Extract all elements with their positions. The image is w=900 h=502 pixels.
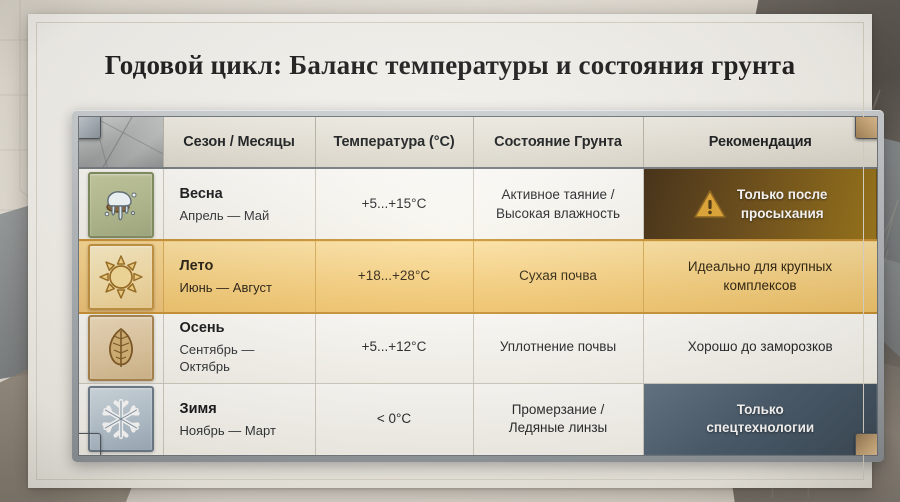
recommendation-line-1: Идеально для крупных — [652, 258, 869, 276]
snowflake-icon — [99, 397, 143, 441]
table-frame-inner: Сезон / Месяцы Температура (°C) Состояни… — [78, 116, 878, 456]
table-body: Весна Апрель — Май +5...+15°C Активное т… — [79, 168, 877, 455]
sun-icon — [98, 254, 144, 300]
table-header: Сезон / Месяцы Температура (°C) Состояни… — [79, 117, 877, 168]
season-months: Ноябрь — Март — [180, 422, 307, 440]
table-row[interactable]: Осень Сентябрь — Октябрь +5...+12°C Упло… — [79, 312, 877, 383]
season-name: Осень — [180, 319, 307, 339]
season-name: Зимя — [180, 400, 307, 420]
melting-snow-tile — [88, 172, 154, 238]
corner-ornament-bottom-left — [78, 433, 101, 456]
table-row[interactable]: Весна Апрель — Май +5...+15°C Активное т… — [79, 168, 877, 241]
soil-cell: Активное таяние / Высокая влажность — [473, 168, 643, 241]
corner-ornament-bottom-right — [855, 433, 878, 456]
season-name-cell: Лето Июнь — Август — [163, 241, 315, 312]
recommendation-line-1: Только после — [737, 186, 827, 204]
leaf-tile — [88, 315, 154, 381]
leaf-icon — [99, 326, 143, 370]
season-months: Сентябрь — Октябрь — [180, 341, 307, 376]
header-temperature: Температура (°C) — [315, 117, 473, 168]
corner-ornament-top-left — [78, 116, 101, 139]
soil-line-1: Промерзание / — [482, 401, 635, 419]
soil-line-2: Высокая влажность — [482, 205, 635, 223]
temperature-cell: +5...+15°C — [315, 168, 473, 241]
melting-snow-icon — [99, 183, 143, 227]
season-name-cell: Зимя Ноябрь — Март — [163, 383, 315, 455]
header-recommendation: Рекомендация — [643, 117, 877, 168]
header-season: Сезон / Месяцы — [163, 117, 315, 168]
infographic-stage: Годовой цикл: Баланс температуры и состо… — [0, 0, 900, 502]
recommendation-cell-warning: Только после просыхания — [643, 168, 877, 241]
table-row[interactable]: Зимя Ноябрь — Март < 0°C Промерзание / Л… — [79, 383, 877, 455]
header-soil: Состояние Грунта — [473, 117, 643, 168]
season-name-cell: Весна Апрель — Май — [163, 168, 315, 241]
season-months: Июнь — Август — [180, 279, 307, 297]
recommendation-line-2: спецтехнологии — [652, 419, 870, 438]
paper-card: Годовой цикл: Баланс температуры и состо… — [28, 14, 872, 488]
recommendation-line-1: Только — [652, 401, 870, 420]
table-frame: Сезон / Месяцы Температура (°C) Состояни… — [72, 110, 884, 462]
header-row: Сезон / Месяцы Температура (°C) Состояни… — [79, 117, 877, 168]
soil-cell: Уплотнение почвы — [473, 312, 643, 383]
season-icon-cell — [79, 241, 163, 312]
recommendation-line-2: просыхания — [737, 205, 827, 223]
soil-line-1: Активное таяние / — [482, 186, 635, 204]
corner-ornament-top-right — [855, 116, 878, 139]
seasonal-table: Сезон / Месяцы Температура (°C) Состояни… — [79, 117, 878, 455]
temperature-cell: +5...+12°C — [315, 312, 473, 383]
soil-cell: Сухая почва — [473, 241, 643, 312]
temperature-cell: +18...+28°C — [315, 241, 473, 312]
season-icon-cell — [79, 168, 163, 241]
temperature-cell: < 0°C — [315, 383, 473, 455]
sun-tile — [88, 244, 154, 310]
recommendation-cell: Хорошо до заморозков — [643, 312, 877, 383]
table-row[interactable]: Лето Июнь — Август +18...+28°C Сухая поч… — [79, 241, 877, 312]
warning-triangle-icon — [693, 189, 727, 220]
recommendation-cell-cold: Только спецтехнологии — [643, 383, 877, 455]
recommendation-line-2: комплексов — [652, 277, 869, 295]
page-title: Годовой цикл: Баланс температуры и состо… — [28, 50, 872, 81]
season-months: Апрель — Май — [180, 207, 307, 225]
soil-cell: Промерзание / Ледяные линзы — [473, 383, 643, 455]
soil-line-2: Ледяные линзы — [482, 419, 635, 437]
season-name: Весна — [180, 185, 307, 205]
season-icon-cell — [79, 312, 163, 383]
season-name: Лето — [180, 257, 307, 277]
season-name-cell: Осень Сентябрь — Октябрь — [163, 312, 315, 383]
recommendation-cell: Идеально для крупных комплексов — [643, 241, 877, 312]
